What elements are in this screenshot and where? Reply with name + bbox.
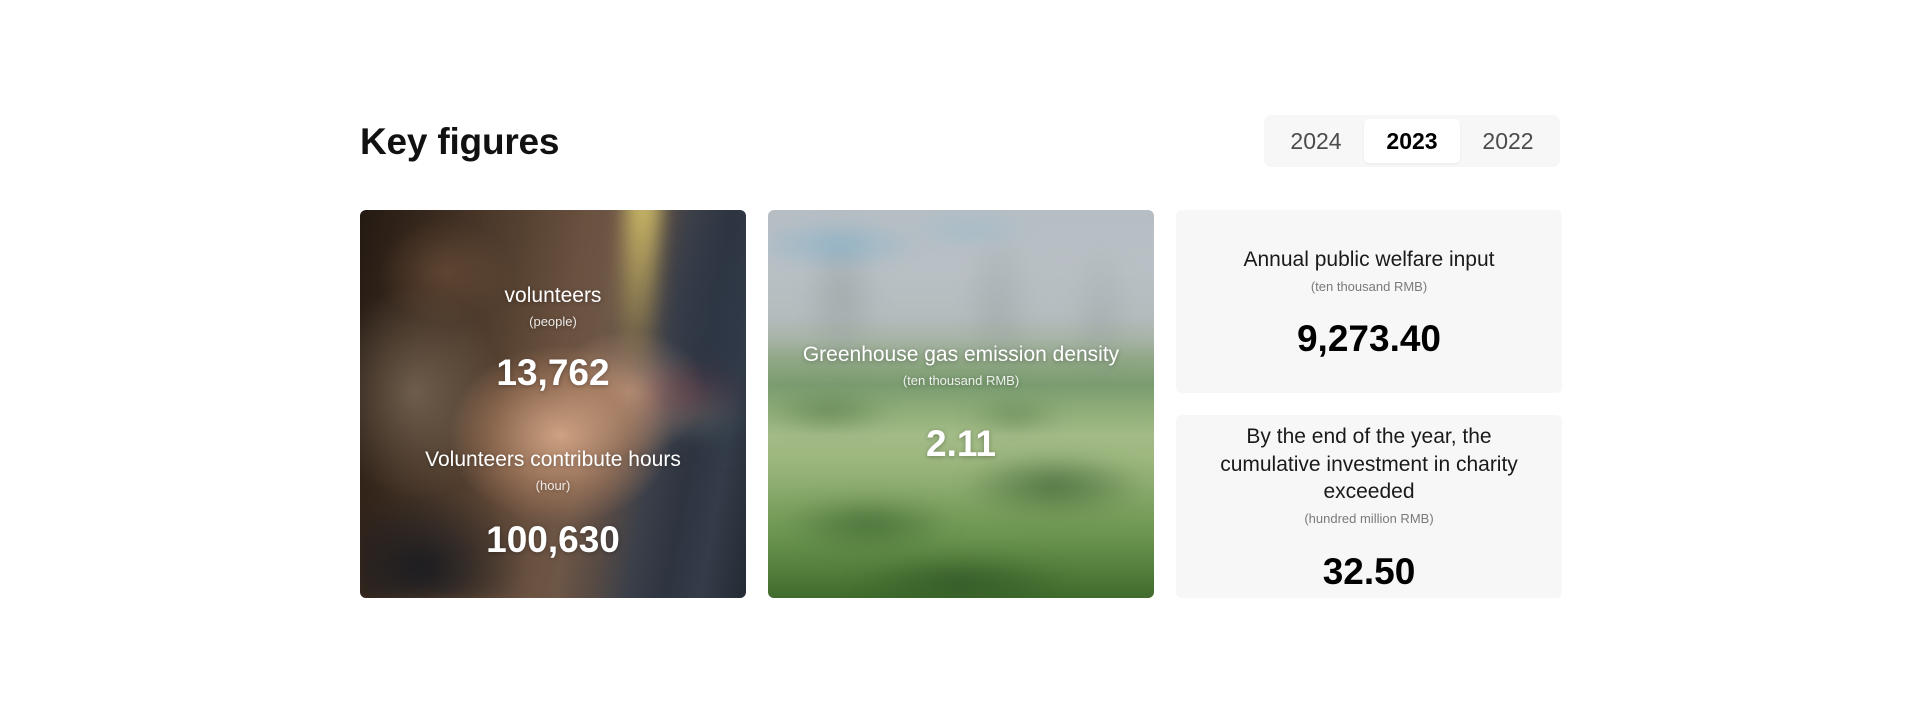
key-figures-page: Key figures 2024 2023 2022 volunteers (p…: [0, 0, 1919, 718]
stat-label: volunteers: [360, 283, 746, 309]
card-volunteers[interactable]: volunteers (people) 13,762 Volunteers co…: [360, 210, 746, 598]
stat-unit: (people): [360, 312, 746, 332]
card-cumulative-charity-investment[interactable]: By the end of the year, the cumulative i…: [1176, 415, 1562, 598]
stat-label: By the end of the year, the cumulative i…: [1198, 423, 1540, 505]
stat-label: Volunteers contribute hours: [360, 447, 746, 473]
year-tab-2023[interactable]: 2023: [1364, 119, 1460, 163]
page-title: Key figures: [360, 123, 559, 160]
stat-value: 9,273.40: [1297, 320, 1441, 357]
plain-card-column: Annual public welfare input (ten thousan…: [1176, 210, 1562, 598]
stat-unit: (ten thousand RMB): [1311, 277, 1427, 297]
stat-unit: (hour): [360, 476, 746, 496]
stat-label: Annual public welfare input: [1244, 246, 1495, 273]
year-tab-2022[interactable]: 2022: [1460, 119, 1556, 163]
stat-greenhouse-density: Greenhouse gas emission density (ten tho…: [768, 342, 1154, 462]
greenhouse-stats-overlay: Greenhouse gas emission density (ten tho…: [768, 210, 1154, 598]
stat-value: 13,762: [360, 354, 746, 391]
stat-value: 100,630: [360, 521, 746, 558]
key-figures-card-row: volunteers (people) 13,762 Volunteers co…: [360, 210, 1560, 598]
stat-volunteer-hours: Volunteers contribute hours (hour) 100,6…: [360, 447, 746, 558]
stat-volunteers-count: volunteers (people) 13,762: [360, 283, 746, 391]
stat-unit: (ten thousand RMB): [768, 371, 1154, 391]
page-header: Key figures 2024 2023 2022: [360, 110, 1560, 172]
year-tab-group: 2024 2023 2022: [1264, 115, 1560, 167]
year-tab-2024[interactable]: 2024: [1268, 119, 1364, 163]
volunteers-stats-overlay: volunteers (people) 13,762 Volunteers co…: [360, 210, 746, 598]
stat-label: Greenhouse gas emission density: [768, 342, 1154, 368]
stat-value: 2.11: [768, 425, 1154, 462]
stat-unit: (hundred million RMB): [1304, 509, 1433, 529]
stat-value: 32.50: [1323, 553, 1416, 590]
card-annual-public-welfare-input[interactable]: Annual public welfare input (ten thousan…: [1176, 210, 1562, 393]
card-greenhouse-gas[interactable]: Greenhouse gas emission density (ten tho…: [768, 210, 1154, 598]
